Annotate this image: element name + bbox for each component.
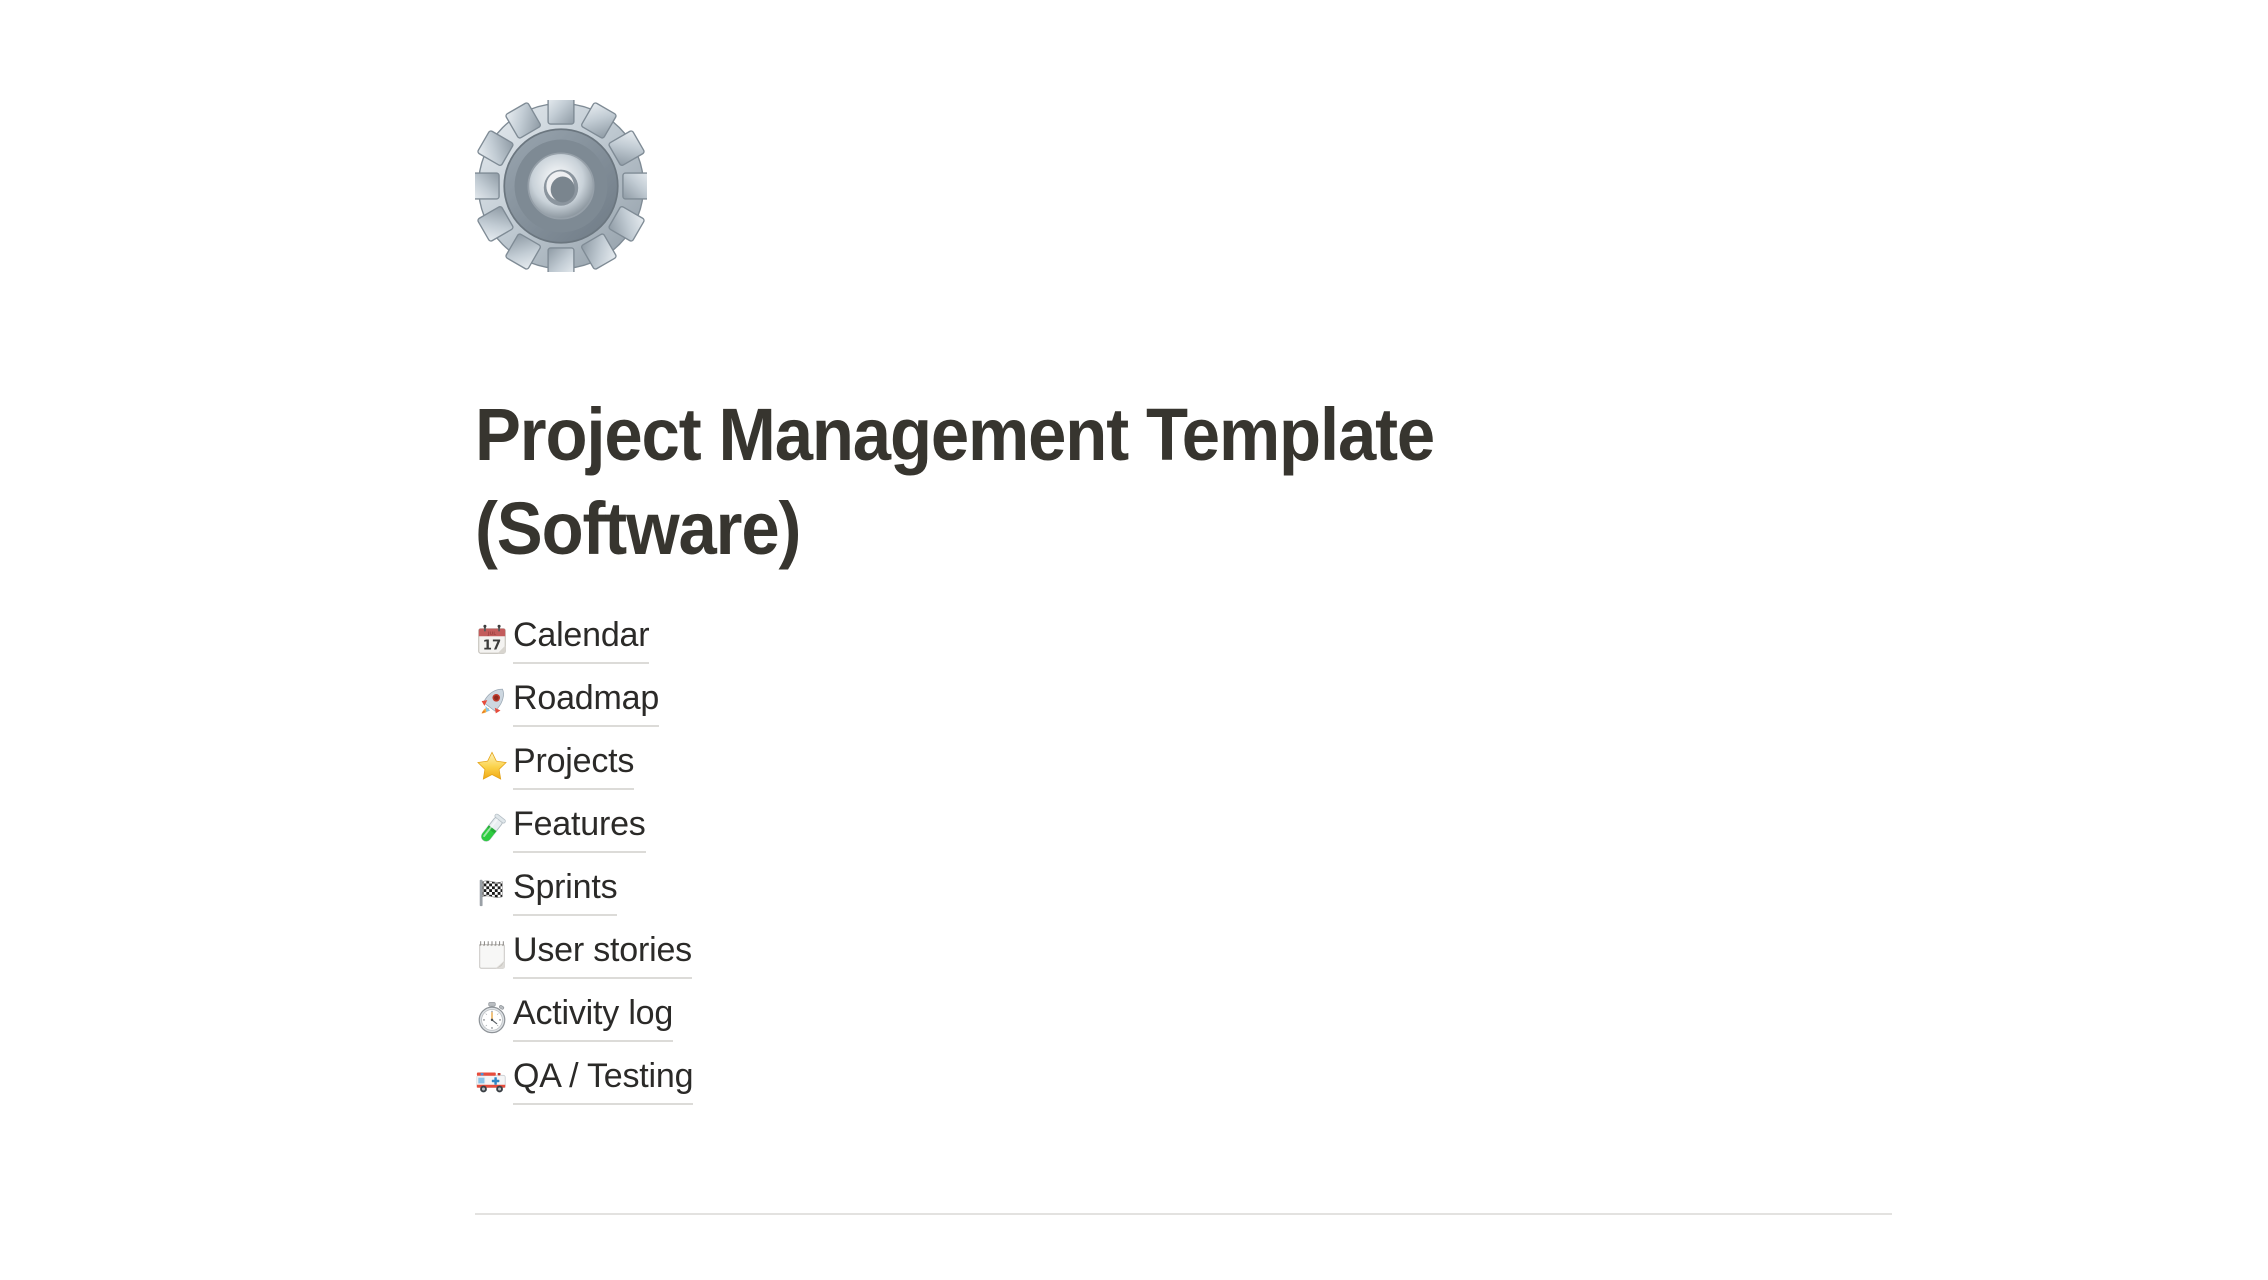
page-link-projects[interactable]: Projects (475, 734, 1475, 797)
page-link-user-stories[interactable]: User stories (475, 923, 1475, 986)
page-link-label: User stories (513, 930, 692, 979)
stopwatch-icon (475, 998, 513, 1038)
test-tube-icon (475, 809, 513, 849)
page-link-calendar[interactable]: JUL 17 Calendar (475, 608, 1475, 671)
page-link-label: Projects (513, 741, 634, 790)
spiral-notepad-icon (475, 935, 513, 975)
rocket-icon (475, 683, 513, 723)
page-link-label: Activity log (513, 993, 673, 1042)
horizontal-divider (475, 1213, 1892, 1215)
chequered-flag-icon (475, 872, 513, 912)
page-title: Project Management Template (Software) (475, 388, 1572, 576)
page-link-roadmap[interactable]: Roadmap (475, 671, 1475, 734)
ambulance-icon (475, 1061, 513, 1101)
gear-icon[interactable] (475, 100, 647, 272)
page-link-label: Calendar (513, 615, 649, 664)
page-link-label: Sprints (513, 867, 617, 916)
page-link-features[interactable]: Features (475, 797, 1475, 860)
page-link-label: QA / Testing (513, 1056, 693, 1105)
notion-page: Project Management Template (Software) J… (0, 0, 2268, 1280)
page-link-list: JUL 17 Calendar (475, 608, 1475, 1112)
page-link-label: Roadmap (513, 678, 659, 727)
page-link-sprints[interactable]: Sprints (475, 860, 1475, 923)
svg-text:17: 17 (483, 638, 501, 653)
calendar-icon: JUL 17 (475, 620, 513, 660)
page-link-qa-testing[interactable]: QA / Testing (475, 1049, 1475, 1112)
page-link-label: Features (513, 804, 646, 853)
page-link-activity-log[interactable]: Activity log (475, 986, 1475, 1049)
star-icon (475, 746, 513, 786)
svg-text:JUL: JUL (487, 630, 497, 636)
